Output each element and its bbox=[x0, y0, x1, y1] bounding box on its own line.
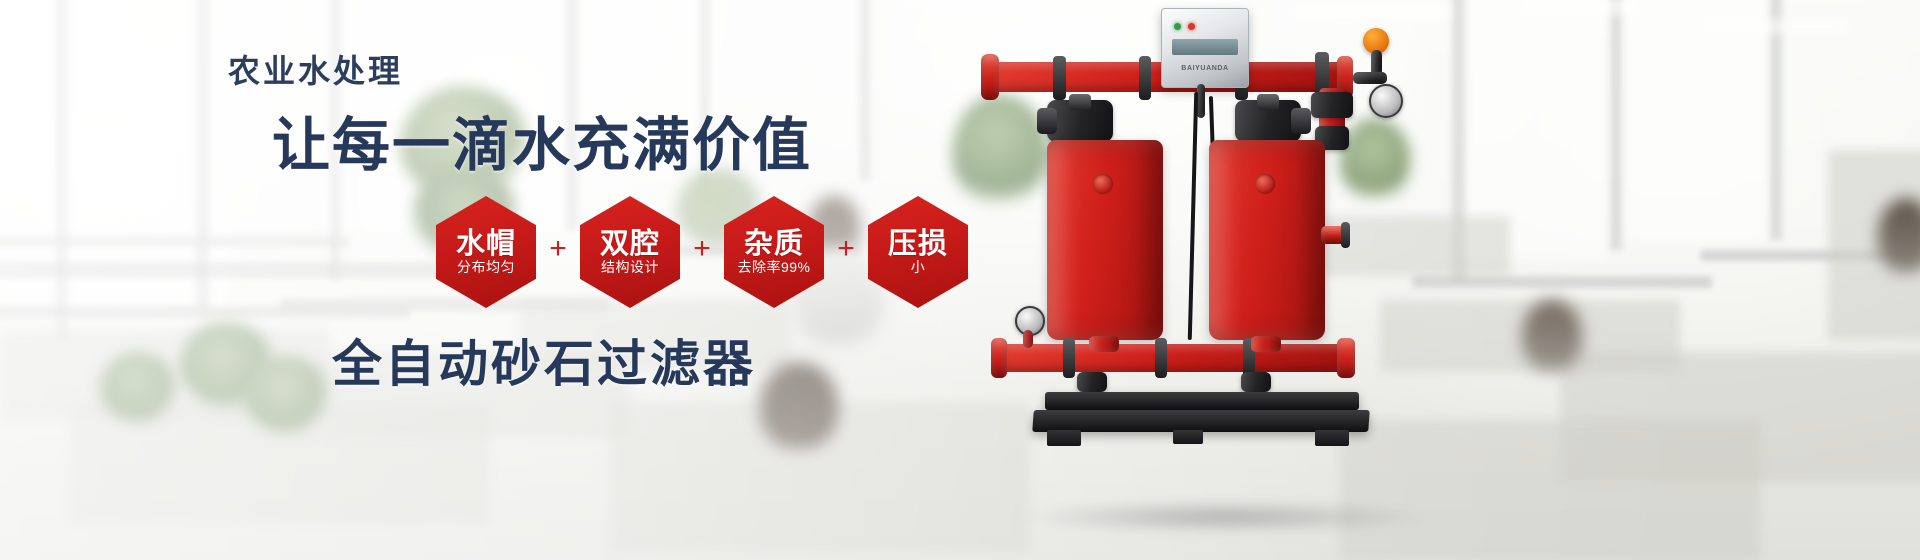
page-title: 让每一滴水充满价值 bbox=[272, 98, 812, 182]
feature-badge-1: 水帽 分布均匀 bbox=[436, 196, 536, 308]
base-frame-top-rail bbox=[1045, 392, 1359, 410]
headline-copy-block: 农业水处理 让每一滴水充满价值 水帽 分布均匀 + 双腔 结构设计 + bbox=[0, 0, 1000, 560]
badge-title: 水帽 bbox=[456, 229, 516, 259]
badge-subtitle: 结构设计 bbox=[601, 260, 659, 275]
product-name: 全自动砂石过滤器 bbox=[332, 324, 756, 396]
badge-title: 杂质 bbox=[744, 229, 804, 259]
drain-valve-right bbox=[1241, 372, 1271, 392]
plus-separator-2: + bbox=[680, 234, 724, 270]
filter-tank-left bbox=[1047, 140, 1163, 340]
control-panel: BAIYUANDA bbox=[1161, 8, 1249, 88]
feature-badge-row: 水帽 分布均匀 + 双腔 结构设计 + 杂质 去除率99% bbox=[436, 196, 968, 308]
feature-badge-2: 双腔 结构设计 bbox=[580, 196, 680, 308]
badge-title: 压损 bbox=[888, 229, 948, 259]
feature-badge-3: 杂质 去除率99% bbox=[724, 196, 824, 308]
badge-subtitle: 小 bbox=[911, 260, 926, 275]
plus-separator-1: + bbox=[536, 234, 580, 270]
drain-valve-left bbox=[1077, 372, 1107, 392]
control-panel-brand: BAIYUANDA bbox=[1162, 65, 1248, 72]
valve-right-upper bbox=[1311, 92, 1353, 118]
filter-tank-right bbox=[1209, 140, 1325, 340]
badge-subtitle: 去除率99% bbox=[737, 260, 810, 275]
sand-filter-machine: BAIYUANDA bbox=[985, 0, 1455, 560]
pressure-gauge-top-right bbox=[1369, 84, 1403, 118]
product-hero-banner: BAIYUANDA bbox=[0, 0, 1920, 560]
eyebrow-text: 农业水处理 bbox=[228, 46, 403, 92]
badge-title: 双腔 bbox=[600, 229, 660, 259]
badge-subtitle: 分布均匀 bbox=[457, 260, 515, 275]
base-frame bbox=[1032, 410, 1370, 432]
tank-hatch-left bbox=[1093, 174, 1113, 194]
tank-hatch-right bbox=[1255, 174, 1275, 194]
bottom-outlet-pipe bbox=[1001, 344, 1351, 372]
plus-separator-3: + bbox=[824, 234, 868, 270]
feature-badge-4: 压损 小 bbox=[868, 196, 968, 308]
